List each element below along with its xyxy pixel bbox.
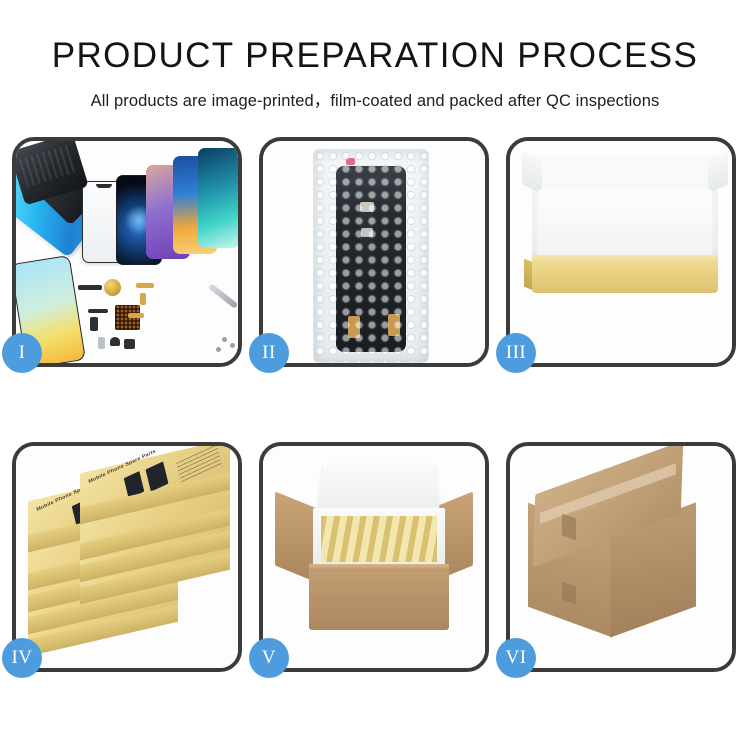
step-badge-4: IV bbox=[2, 638, 42, 678]
step-image-1 bbox=[16, 141, 238, 363]
foam-sheet-icon bbox=[538, 189, 712, 265]
step-badge-6: VI bbox=[496, 638, 536, 678]
page-subtitle: All products are image-printed，film-coat… bbox=[0, 87, 750, 111]
step-badge-3: III bbox=[496, 333, 536, 373]
kraft-tray-scene bbox=[510, 141, 732, 363]
battery-strip-icon bbox=[78, 285, 102, 290]
bubble-wrap-scene bbox=[263, 141, 485, 363]
screw-icon bbox=[222, 337, 227, 342]
header: PRODUCT PREPARATION PROCESS All products… bbox=[0, 0, 750, 111]
screw-icon bbox=[216, 347, 221, 352]
carton-seam-upper-icon bbox=[562, 513, 576, 540]
steps-grid: I II bbox=[12, 137, 738, 682]
step-image-4: Mobile Phone Spare Parts bbox=[16, 446, 238, 668]
gold-contact-right-icon bbox=[388, 314, 400, 336]
screw-icon bbox=[230, 343, 235, 348]
stacked-boxes-scene: Mobile Phone Spare Parts bbox=[16, 446, 238, 668]
step-badge-1: I bbox=[2, 333, 42, 373]
phone-parts-scene bbox=[16, 141, 238, 363]
retail-box-labeled-upper: Mobile Phone Spare Parts bbox=[80, 456, 230, 480]
tray-front-icon bbox=[532, 263, 718, 293]
sim-tray-icon bbox=[98, 337, 105, 349]
screwdriver-icon bbox=[208, 283, 238, 309]
ic-chip-icon bbox=[361, 228, 373, 237]
step-image-6 bbox=[510, 446, 732, 668]
vibrator-icon bbox=[124, 339, 135, 349]
volume-flex-icon bbox=[136, 283, 154, 288]
box-stack: Mobile Phone Spare Parts bbox=[24, 464, 238, 660]
connector-pad-icon bbox=[360, 202, 374, 212]
step-panel-3: III bbox=[506, 137, 736, 367]
step-image-2 bbox=[263, 141, 485, 363]
step-badge-5: V bbox=[249, 638, 289, 678]
power-flex-icon bbox=[140, 293, 146, 305]
gold-contact-left-icon bbox=[348, 316, 360, 338]
step-image-5 bbox=[263, 446, 485, 668]
flex-cable-icon bbox=[88, 309, 108, 313]
page-title: PRODUCT PREPARATION PROCESS bbox=[0, 36, 750, 76]
step-panel-2: II bbox=[259, 137, 489, 367]
product-preparation-infographic: PRODUCT PREPARATION PROCESS All products… bbox=[0, 0, 750, 750]
phone-display-teal-icon bbox=[198, 148, 238, 248]
camera-flex-icon bbox=[128, 313, 144, 318]
pink-label-icon bbox=[346, 158, 355, 165]
step-image-3 bbox=[510, 141, 732, 363]
step-panel-6: VI bbox=[506, 442, 736, 672]
earpiece-icon bbox=[110, 337, 120, 346]
screen-flex-cable-icon bbox=[360, 210, 373, 310]
open-carton-scene bbox=[263, 446, 485, 668]
step-badge-2: II bbox=[249, 333, 289, 373]
carton-front-icon bbox=[309, 564, 449, 630]
box-label-text: Mobile Phone Spare Parts bbox=[88, 449, 156, 485]
step-panel-5: V bbox=[259, 442, 489, 672]
connector-icon bbox=[90, 317, 98, 331]
sealed-carton-scene bbox=[510, 446, 732, 668]
packed-boxes-icon bbox=[321, 516, 437, 562]
bubble-wrap-bag-icon bbox=[313, 149, 429, 363]
speaker-coil-icon bbox=[104, 279, 121, 296]
step-panel-1: I bbox=[12, 137, 242, 367]
step-panel-4: Mobile Phone Spare Parts bbox=[12, 442, 242, 672]
